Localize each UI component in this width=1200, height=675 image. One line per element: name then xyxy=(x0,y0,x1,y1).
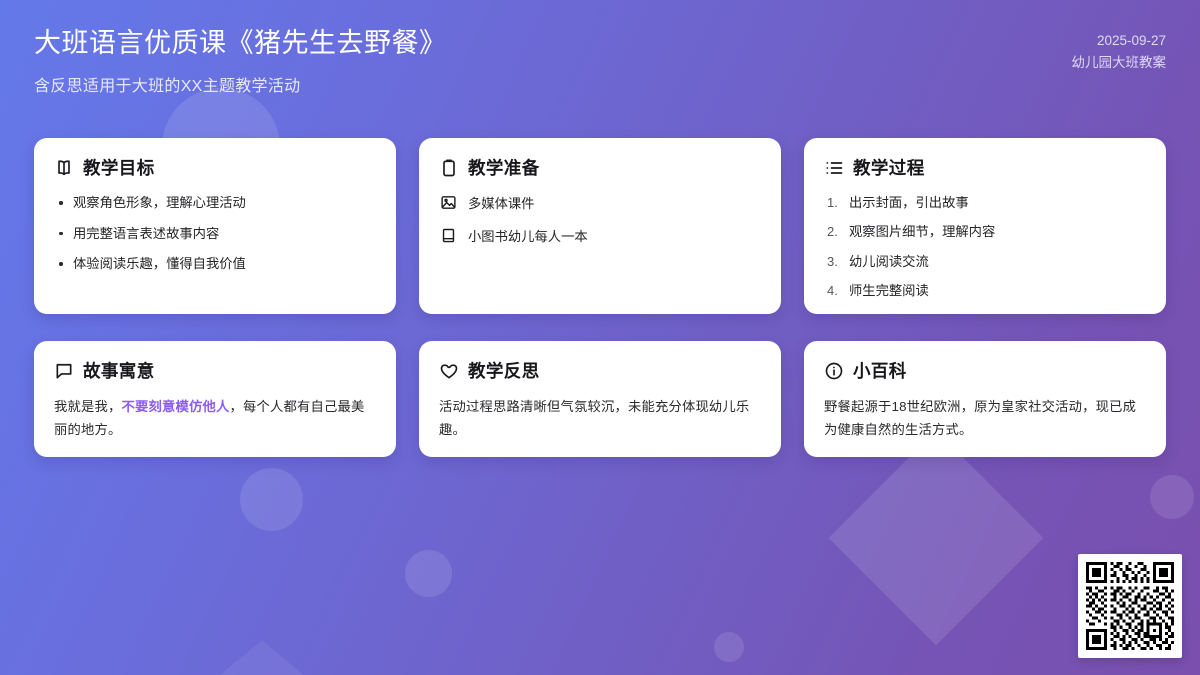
card-header: 教学目标 xyxy=(54,155,376,180)
card-header: 小百科 xyxy=(824,358,1146,383)
card-title: 教学目标 xyxy=(83,155,155,180)
decor-circle-2 xyxy=(240,468,303,531)
document-kind-label: 幼儿园大班教案 xyxy=(1072,52,1167,74)
card-title: 教学反思 xyxy=(468,358,540,383)
list-item: 师生完整阅读 xyxy=(827,281,1146,301)
qr-code-image xyxy=(1086,562,1174,650)
slide-canvas: 大班语言优质课《猪先生去野餐》 含反思适用于大班的XX主题教学活动 2025-0… xyxy=(0,0,1200,675)
heart-icon xyxy=(439,361,459,381)
card-encyclopedia: 小百科 野餐起源于18世纪欧洲，原为皇家社交活动，现已成为健康自然的生活方式。 xyxy=(804,341,1166,457)
card-teaching-process: 教学过程 出示封面，引出故事 观察图片细节，理解内容 幼儿阅读交流 师生完整阅读 xyxy=(804,138,1166,314)
qr-code[interactable] xyxy=(1078,554,1182,658)
list-item-label: 小图书幼儿每人一本 xyxy=(468,226,588,245)
card-title: 教学准备 xyxy=(468,155,540,180)
image-icon xyxy=(440,194,457,211)
goals-list: 观察角色形象，理解心理活动 用完整语言表述故事内容 体验阅读乐趣，懂得自我价值 xyxy=(56,193,376,275)
card-header: 教学准备 xyxy=(439,155,761,180)
card-header: 故事寓意 xyxy=(54,358,376,383)
decor-circle-5 xyxy=(714,632,744,662)
card-grid: 教学目标 观察角色形象，理解心理活动 用完整语言表述故事内容 体验阅读乐趣，懂得… xyxy=(34,138,1166,457)
clipboard-icon xyxy=(439,158,459,178)
date-label: 2025-09-27 xyxy=(1072,30,1167,52)
card-title: 小百科 xyxy=(853,358,907,383)
list-item: 多媒体课件 xyxy=(440,193,761,212)
decor-diamond xyxy=(829,431,1044,646)
reflection-text: 活动过程思路清晰但气氛较沉，未能充分体现幼儿乐趣。 xyxy=(439,396,761,442)
encyclopedia-text: 野餐起源于18世纪欧洲，原为皇家社交活动，现已成为健康自然的生活方式。 xyxy=(824,396,1146,442)
card-header: 教学过程 xyxy=(824,155,1146,180)
list-item: 观察角色形象，理解心理活动 xyxy=(56,193,376,214)
card-title: 教学过程 xyxy=(853,155,925,180)
process-list: 出示封面，引出故事 观察图片细节，理解内容 幼儿阅读交流 师生完整阅读 xyxy=(827,193,1146,301)
list-item-label: 多媒体课件 xyxy=(468,193,534,212)
page-subtitle: 含反思适用于大班的XX主题教学活动 xyxy=(34,72,1166,96)
card-header: 教学反思 xyxy=(439,358,761,383)
list-item: 体验阅读乐趣，懂得自我价值 xyxy=(56,254,376,275)
story-moral-text: 我就是我，不要刻意模仿他人，每个人都有自己最美丽的地方。 xyxy=(54,396,376,442)
info-circle-icon xyxy=(824,361,844,381)
card-teaching-prep: 教学准备 多媒体课件 xyxy=(419,138,781,314)
list-item: 观察图片细节，理解内容 xyxy=(827,222,1146,242)
list-item: 出示封面，引出故事 xyxy=(827,193,1146,213)
speech-bubble-icon xyxy=(54,361,74,381)
text-before: 我就是我， xyxy=(54,399,121,414)
decor-circle-4 xyxy=(1150,475,1194,519)
card-teaching-reflection: 教学反思 活动过程思路清晰但气氛较沉，未能充分体现幼儿乐趣。 xyxy=(419,341,781,457)
list-ordered-icon xyxy=(824,158,844,178)
page-title: 大班语言优质课《猪先生去野餐》 xyxy=(34,26,1166,61)
list-item: 幼儿阅读交流 xyxy=(827,252,1146,272)
header-meta: 2025-09-27 幼儿园大班教案 xyxy=(1072,30,1167,75)
slide-header: 大班语言优质课《猪先生去野餐》 含反思适用于大班的XX主题教学活动 xyxy=(0,0,1200,118)
book-icon xyxy=(440,227,457,244)
card-teaching-goals: 教学目标 观察角色形象，理解心理活动 用完整语言表述故事内容 体验阅读乐趣，懂得… xyxy=(34,138,396,314)
list-item: 用完整语言表述故事内容 xyxy=(56,224,376,245)
list-item: 小图书幼儿每人一本 xyxy=(440,226,761,245)
highlighted-phrase: 不要刻意模仿他人 xyxy=(121,399,229,414)
card-story-moral: 故事寓意 我就是我，不要刻意模仿他人，每个人都有自己最美丽的地方。 xyxy=(34,341,396,457)
open-book-icon xyxy=(54,158,74,178)
prep-list: 多媒体课件 小图书幼儿每人一本 xyxy=(440,193,761,245)
decor-circle-3 xyxy=(405,550,452,597)
card-title: 故事寓意 xyxy=(83,358,155,383)
decor-triangle xyxy=(200,640,324,675)
